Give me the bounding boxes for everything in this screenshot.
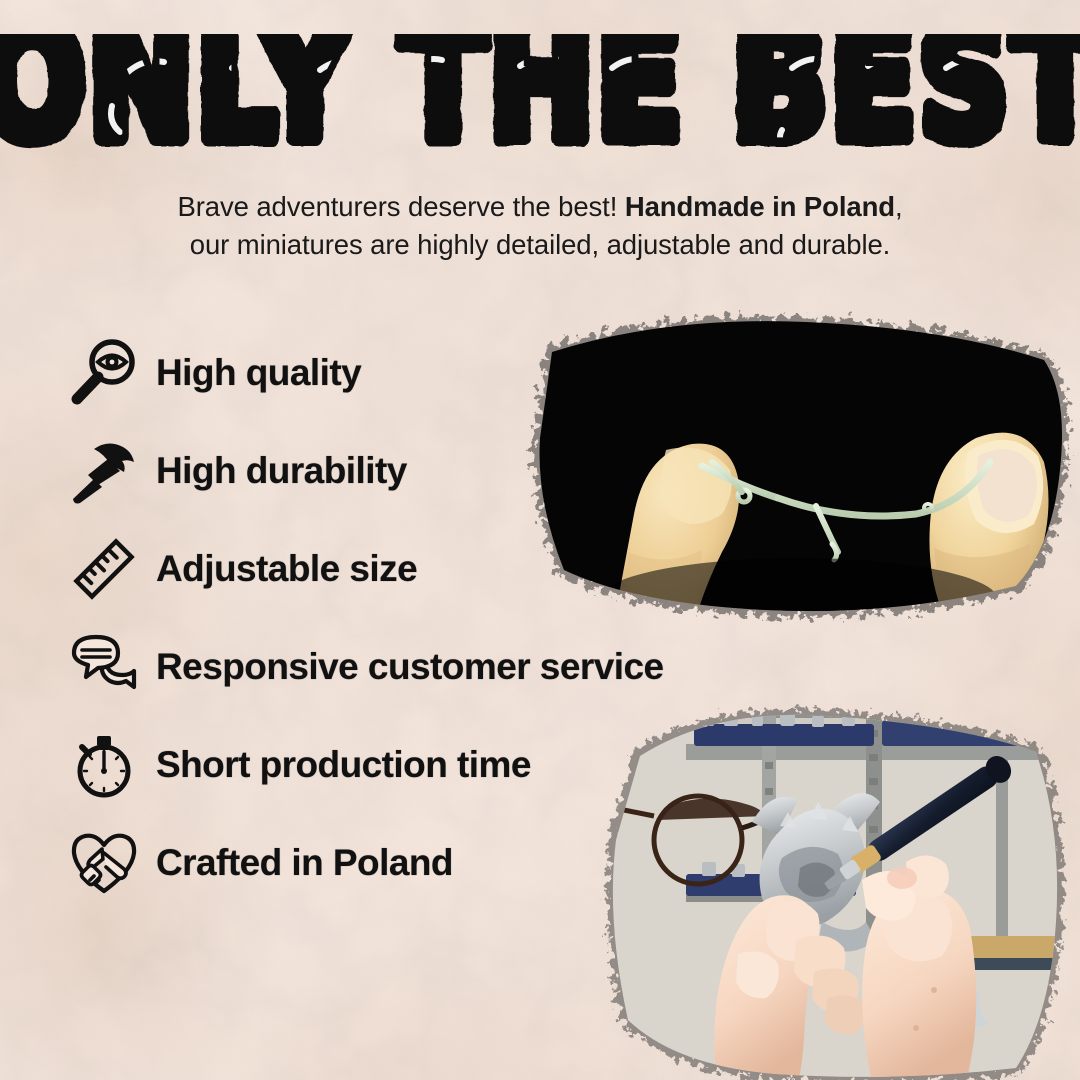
stopwatch-icon — [66, 727, 142, 803]
page-headline: ONLY THE BEST ONLY THE BEST — [0, 34, 1080, 166]
handshake-heart-icon — [66, 825, 142, 901]
ruler-icon — [66, 531, 142, 607]
speech-bubbles-icon — [66, 629, 142, 705]
feature-label: Crafted in Poland — [156, 842, 453, 884]
feature-row-short-production-time: Short production time — [0, 716, 800, 814]
subtitle: Brave adventurers deserve the best! Hand… — [0, 188, 1080, 264]
feature-row-crafted-in-poland: Crafted in Poland — [0, 814, 800, 912]
feature-row-responsive-customer-service: Responsive customer service — [0, 618, 800, 716]
feature-label: High quality — [156, 352, 361, 394]
feature-label: Adjustable size — [156, 548, 417, 590]
subtitle-line-2: our miniatures are highly detailed, adju… — [0, 226, 1080, 264]
subtitle-lead: Brave adventurers deserve the best! — [177, 191, 624, 222]
hammer-icon — [66, 433, 142, 509]
feature-list: High quality High durability — [0, 324, 800, 912]
subtitle-tail: , — [895, 191, 903, 222]
feature-label: Short production time — [156, 744, 531, 786]
magnifier-eye-icon — [66, 335, 142, 411]
feature-row-high-quality: High quality — [0, 324, 800, 422]
subtitle-line-1: Brave adventurers deserve the best! Hand… — [0, 188, 1080, 226]
feature-label: Responsive customer service — [156, 646, 664, 688]
headline-text: ONLY THE BEST ONLY THE BEST — [0, 34, 1080, 166]
svg-text:ONLY THE BEST: ONLY THE BEST — [0, 34, 1080, 166]
feature-label: High durability — [156, 450, 407, 492]
subtitle-bold: Handmade in Poland — [625, 191, 895, 222]
feature-row-high-durability: High durability — [0, 422, 800, 520]
feature-row-adjustable-size: Adjustable size — [0, 520, 800, 618]
